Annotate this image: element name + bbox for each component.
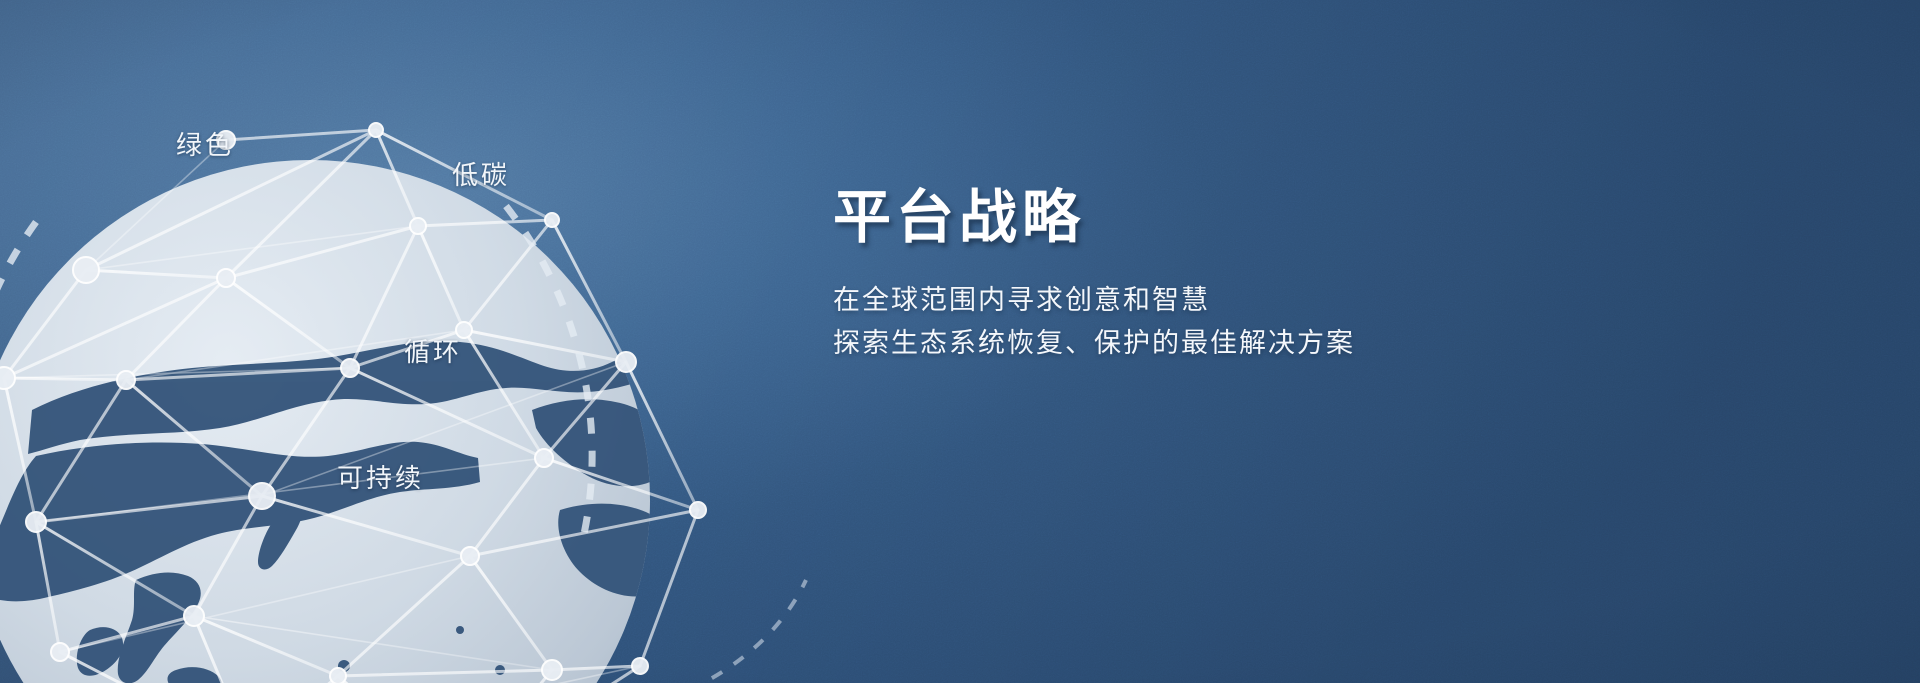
label-low-carbon: 低碳 (452, 155, 510, 192)
hero-banner: 绿色 低碳 循环 可持续 平台战略 在全球范围内寻求创意和智慧 探索生态系统恢复… (0, 0, 1920, 683)
subtitle-line-2: 探索生态系统恢复、保护的最佳解决方案 (833, 322, 1553, 366)
label-circular: 循环 (404, 332, 462, 369)
label-sustainable: 可持续 (337, 458, 424, 495)
headline-block: 平台战略 在全球范围内寻求创意和智慧 探索生态系统恢复、保护的最佳解决方案 (833, 186, 1553, 366)
globe-network-illustration (0, 110, 840, 683)
label-green: 绿色 (176, 125, 234, 162)
page-title: 平台战略 (833, 186, 1553, 249)
subtitle-line-1: 在全球范围内寻求创意和智慧 (833, 279, 1553, 323)
